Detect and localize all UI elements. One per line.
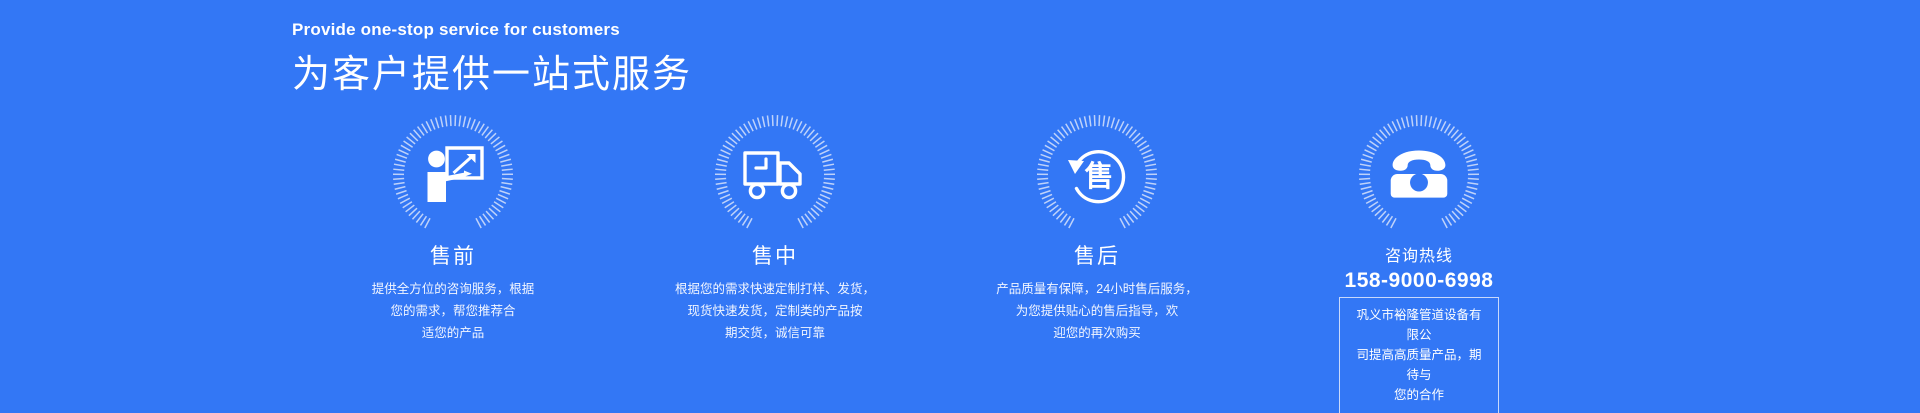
desc-line: 适您的产品 — [372, 322, 535, 344]
desc-line: 迎您的再次购买 — [996, 322, 1197, 344]
page-title: 为客户提供一站式服务 — [292, 48, 692, 102]
service-column-description: 产品质量有保障，24小时售后服务， 为您提供贴心的售后指导，欢 迎您的再次购买 — [996, 278, 1197, 344]
service-column-in-sale[interactable]: 售中 根据您的需求快速定制打样、发货， 现货快速发货，定制类的产品按 期交货，诚… — [614, 110, 936, 344]
company-note-box: 巩义市裕隆管道设备有限公 司提高高质量产品，期待与 您的合作 — [1339, 297, 1499, 413]
service-column-description: 根据您的需求快速定制打样、发货， 现货快速发货，定制类的产品按 期交货，诚信可靠 — [675, 278, 875, 344]
heading-block: Provide one-stop service for customers 为… — [292, 16, 692, 102]
hotline-column[interactable]: 咨询热线 158-9000-6998 巩义市裕隆管道设备有限公 司提高高质量产品… — [1258, 110, 1580, 413]
service-banner: Provide one-stop service for customers 为… — [0, 0, 1920, 413]
service-column-title: 售后 — [1074, 244, 1120, 270]
icon-container — [388, 110, 518, 240]
after-sale-glyph-char: 售 — [1084, 160, 1113, 193]
after-sale-refresh-icon: 售 — [1064, 142, 1130, 208]
icon-container: 售 — [1032, 110, 1162, 240]
company-note-line: 司提高高质量产品，期待与 — [1352, 345, 1486, 385]
desc-line: 产品质量有保障，24小时售后服务， — [996, 278, 1197, 300]
icon-container — [1354, 110, 1484, 240]
desc-line: 现货快速发货，定制类的产品按 — [675, 300, 875, 322]
service-column-description: 提供全方位的咨询服务，根据 您的需求，帮您推荐合 适您的产品 — [372, 278, 535, 344]
presenter-chart-icon — [420, 142, 486, 208]
company-note-line: 您的合作 — [1352, 385, 1486, 405]
telephone-icon — [1386, 142, 1452, 208]
hotline-number[interactable]: 158-9000-6998 — [1345, 268, 1494, 294]
desc-line: 根据您的需求快速定制打样、发货， — [675, 278, 875, 300]
hotline-label: 咨询热线 — [1385, 246, 1453, 268]
service-column-title: 售中 — [752, 244, 798, 270]
company-note-line: 巩义市裕隆管道设备有限公 — [1352, 305, 1486, 345]
service-column-pre-sale[interactable]: 售前 提供全方位的咨询服务，根据 您的需求，帮您推荐合 适您的产品 — [292, 110, 614, 344]
desc-line: 期交货，诚信可靠 — [675, 322, 875, 344]
icon-container — [710, 110, 840, 240]
service-column-after-sale[interactable]: 售 售后 产品质量有保障，24小时售后服务， 为您提供贴心的售后指导，欢 迎您的… — [936, 110, 1258, 344]
desc-line: 为您提供贴心的售后指导，欢 — [996, 300, 1197, 322]
service-columns: 售前 提供全方位的咨询服务，根据 您的需求，帮您推荐合 适您的产品 — [292, 110, 1580, 413]
service-column-title: 售前 — [430, 244, 476, 270]
desc-line: 提供全方位的咨询服务，根据 — [372, 278, 535, 300]
delivery-truck-icon — [742, 142, 808, 208]
heading-subtitle-en: Provide one-stop service for customers — [292, 16, 692, 44]
desc-line: 您的需求，帮您推荐合 — [372, 300, 535, 322]
